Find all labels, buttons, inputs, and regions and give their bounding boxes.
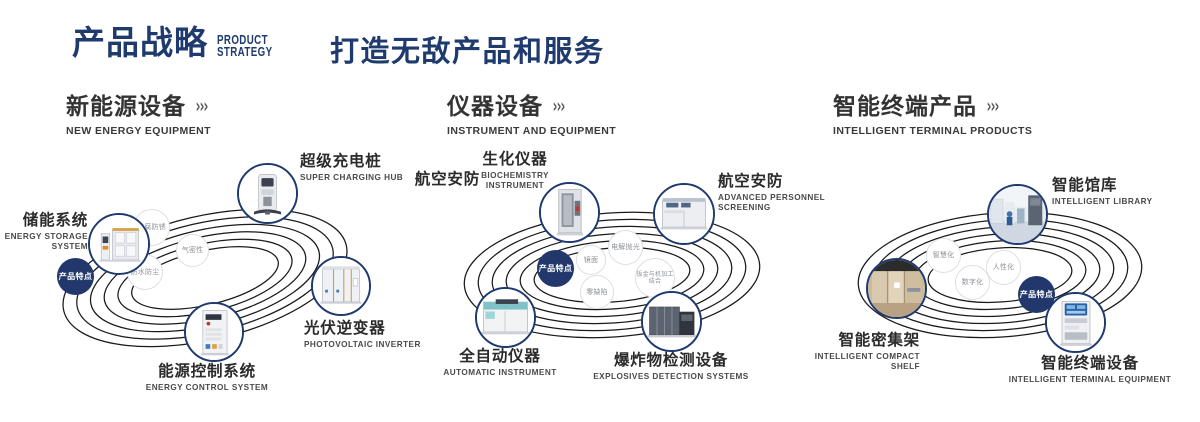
battery-cabinet-photo xyxy=(90,215,148,273)
node-bubble-energy-storage[interactable] xyxy=(88,213,150,275)
screening-machine-photo xyxy=(655,185,713,243)
node-caption-en: BIOCHEMISTRYINSTRUMENT xyxy=(430,171,600,191)
feature-chip-smart: 智慧化 xyxy=(926,238,961,273)
node-caption-en: ENERGY STORAGESYSTEM xyxy=(0,232,88,252)
node-caption-cn: 储能系统 xyxy=(0,212,88,230)
feature-chip-digital: 数字化 xyxy=(955,265,990,300)
section-heading-new-energy-cn: 新能源设备 ››› xyxy=(66,95,211,120)
cluster-intelligent-terminal: 产品特点 智慧化 数字化 人性化 xyxy=(800,150,1200,400)
feature-chip-label: 智慧化 xyxy=(933,251,955,260)
feature-chip-humanized: 人性化 xyxy=(986,250,1021,285)
section-heading-terminal-en: INTELLIGENT TERMINAL PRODUCTS xyxy=(833,125,1032,137)
section-heading-instrument: 仪器设备 ››› INSTRUMENT AND EQUIPMENT xyxy=(447,95,616,137)
page-slogan: 打造无敌产品和服务 xyxy=(330,28,605,70)
chevron-right-icon: ››› xyxy=(196,97,208,118)
product-strategy-poster: 产品战略 PRODUCT STRATEGY 打造无敌产品和服务 新能源设备 ››… xyxy=(0,0,1200,422)
section-heading-new-energy-en: NEW ENERGY EQUIPMENT xyxy=(66,125,211,137)
node-caption-energy-control: 能源控制系统 ENERGY CONTROL SYSTEM xyxy=(87,363,327,393)
automatic-analyzer-photo xyxy=(477,289,534,346)
node-bubble-automatic-instrument[interactable] xyxy=(475,287,536,348)
feature-chip-electropolish: 电解抛光 xyxy=(608,230,643,265)
charging-pile-photo xyxy=(239,165,296,222)
core-badge-label: 产品特点 xyxy=(539,264,573,274)
compact-shelf-photo xyxy=(868,260,925,317)
section-heading-terminal-cn: 智能终端产品 ››› xyxy=(833,95,1032,120)
node-caption-automatic-instrument: 全自动仪器 AUTOMATIC INSTRUMENT xyxy=(390,348,610,378)
page-title-english-line2: STRATEGY xyxy=(217,46,272,58)
section-heading-terminal-label: 智能终端产品 xyxy=(833,95,977,120)
node-caption-cn: 智能馆库 xyxy=(1052,177,1187,195)
feature-chip-label: 气密性 xyxy=(182,246,204,255)
feature-chip-zero-defect: 零缺陷 xyxy=(580,275,614,309)
node-caption-en: INTELLIGENT COMPACTSHELF xyxy=(760,352,920,372)
feature-chip-label: 电解抛光 xyxy=(611,243,640,252)
core-badge-new-energy: 产品特点 xyxy=(57,258,94,295)
library-interior-photo xyxy=(989,186,1046,243)
node-caption-cn: 全自动仪器 xyxy=(390,348,610,366)
core-badge-instrument: 产品特点 xyxy=(537,250,574,287)
node-bubble-terminal-equipment[interactable] xyxy=(1045,292,1106,353)
explosive-detector-photo xyxy=(643,293,700,350)
node-bubble-intelligent-library[interactable] xyxy=(987,184,1048,245)
node-bubble-biochemistry[interactable] xyxy=(539,182,600,243)
node-caption-biochemistry: 生化仪器 BIOCHEMISTRYINSTRUMENT xyxy=(430,151,600,191)
feature-chip-label: 数字化 xyxy=(962,278,984,287)
cluster-instrument: 产品特点 镜面 电解抛光 零缺陷 钣金与机加工结合 航空安防 xyxy=(400,150,820,400)
feature-chip-label: 零缺陷 xyxy=(586,288,608,297)
chevron-right-icon: ››› xyxy=(553,97,565,118)
section-heading-instrument-cn: 仪器设备 ››› xyxy=(447,95,616,120)
page-title-english: PRODUCT STRATEGY xyxy=(217,34,272,58)
chevron-right-icon: ››› xyxy=(987,97,999,118)
node-caption-compact-shelf: 智能密集架 INTELLIGENT COMPACTSHELF xyxy=(760,332,920,372)
cluster-new-energy: 产品特点 户外 防腐防锈 防水防尘 气密性 xyxy=(0,150,420,410)
node-bubble-screening[interactable] xyxy=(653,183,715,245)
section-heading-terminal: 智能终端产品 ››› INTELLIGENT TERMINAL PRODUCTS xyxy=(833,95,1032,137)
node-bubble-explosives-detection[interactable] xyxy=(641,291,702,352)
feature-chip-label: 钣金与机加工结合 xyxy=(636,271,674,286)
node-bubble-pv-inverter[interactable] xyxy=(311,256,371,316)
node-caption-en: AUTOMATIC INSTRUMENT xyxy=(390,368,610,378)
node-caption-cn: 生化仪器 xyxy=(430,151,600,169)
core-badge-label: 产品特点 xyxy=(59,272,93,282)
node-bubble-compact-shelf[interactable] xyxy=(866,258,927,319)
section-heading-new-energy-label: 新能源设备 xyxy=(66,95,186,120)
feature-chip-label: 人性化 xyxy=(993,263,1015,272)
node-bubble-charging-hub[interactable] xyxy=(237,163,298,224)
node-caption-cn: 智能密集架 xyxy=(760,332,920,350)
section-heading-instrument-label: 仪器设备 xyxy=(447,95,543,120)
feature-chip-label: 镜面 xyxy=(584,256,598,265)
node-caption-cn: 智能终端设备 xyxy=(980,355,1200,373)
node-caption-en: INTELLIGENT LIBRARY xyxy=(1052,197,1187,207)
node-caption-en: INTELLIGENT TERMINAL EQUIPMENT xyxy=(980,375,1200,385)
biochemistry-scanner-photo xyxy=(541,184,598,241)
node-caption-cn: 能源控制系统 xyxy=(87,363,327,381)
feature-chip-airtight: 气密性 xyxy=(176,234,209,267)
node-caption-energy-storage: 储能系统 ENERGY STORAGESYSTEM xyxy=(0,212,88,252)
node-caption-intelligent-library: 智能馆库 INTELLIGENT LIBRARY xyxy=(1052,177,1187,207)
self-service-kiosk-photo xyxy=(1047,294,1104,351)
control-cabinet-photo xyxy=(186,304,242,360)
poster-header: 产品战略 PRODUCT STRATEGY xyxy=(72,26,288,59)
node-bubble-energy-control[interactable] xyxy=(184,302,244,362)
feature-chip-mirror: 镜面 xyxy=(576,245,606,275)
section-heading-new-energy: 新能源设备 ››› NEW ENERGY EQUIPMENT xyxy=(66,95,211,137)
inverter-cabinet-photo xyxy=(313,258,369,314)
node-caption-terminal-equipment: 智能终端设备 INTELLIGENT TERMINAL EQUIPMENT xyxy=(980,355,1200,385)
section-heading-instrument-en: INSTRUMENT AND EQUIPMENT xyxy=(447,125,616,137)
page-title: 产品战略 xyxy=(72,26,208,59)
node-caption-en: ENERGY CONTROL SYSTEM xyxy=(87,383,327,393)
